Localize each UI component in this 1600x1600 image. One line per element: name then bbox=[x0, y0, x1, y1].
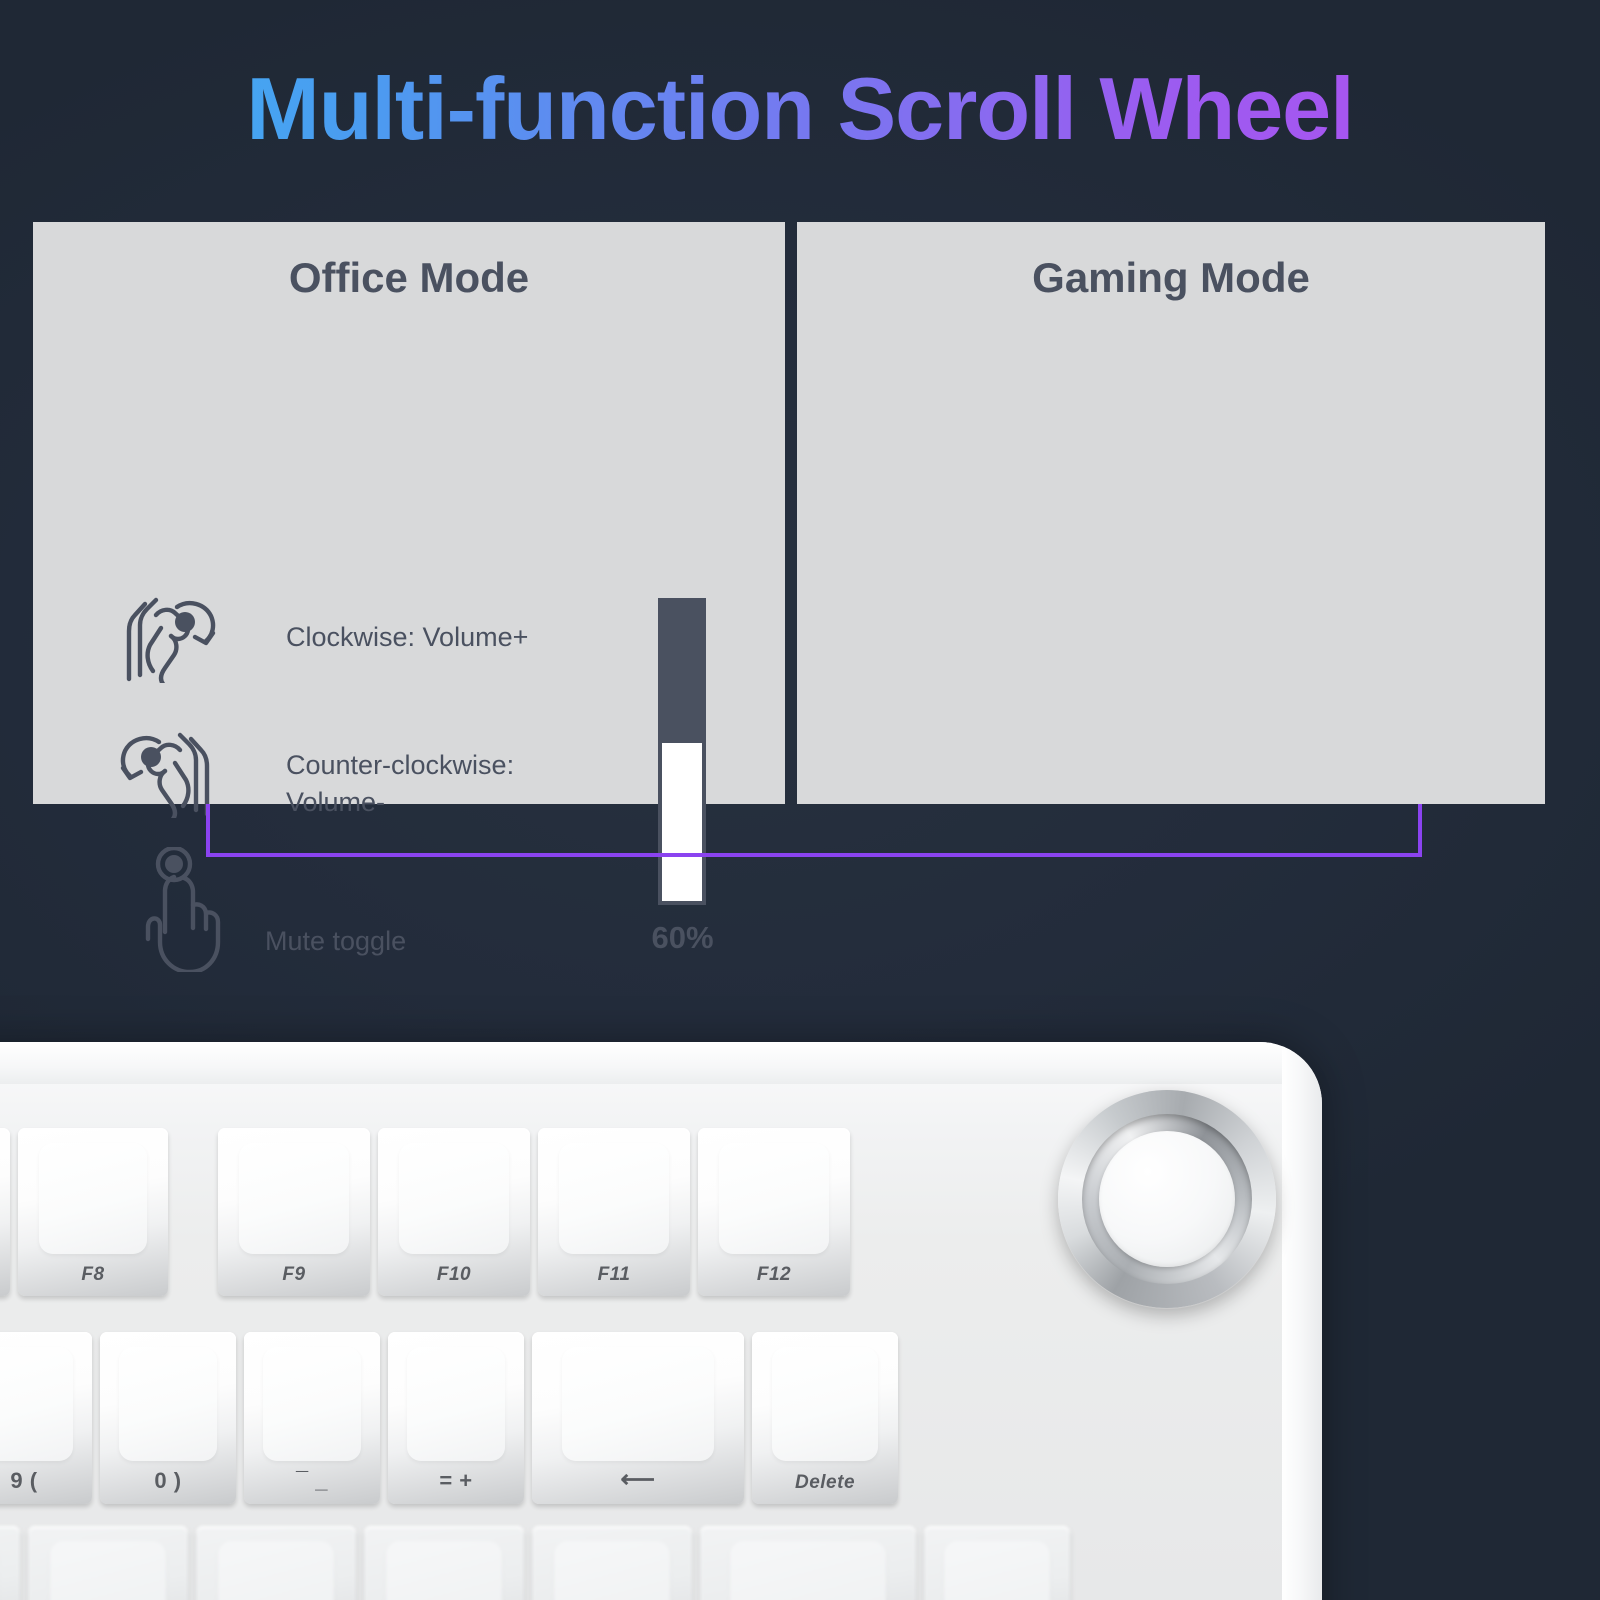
key-f9[interactable]: F9 bbox=[218, 1128, 370, 1296]
panel-office-mode: Office Mode Clockwise: Volume+ bbox=[33, 222, 785, 804]
key-minus[interactable]: ¯ _ bbox=[244, 1332, 380, 1504]
infographic-canvas: Multi-function Scroll Wheel Office Mode … bbox=[0, 0, 1600, 1600]
key-label: F7 bbox=[0, 1264, 10, 1286]
keyboard-bottom-row bbox=[0, 1526, 1078, 1600]
key-f7[interactable]: F7 bbox=[0, 1128, 10, 1296]
key-label: ¯ _ bbox=[244, 1468, 380, 1494]
key-label: F9 bbox=[218, 1264, 370, 1286]
keyboard-right-bevel bbox=[1282, 1042, 1322, 1600]
key-f12[interactable]: F12 bbox=[698, 1128, 850, 1296]
key-bottom-7[interactable] bbox=[924, 1526, 1070, 1600]
volume-fill bbox=[662, 602, 702, 743]
key-bottom-3[interactable] bbox=[196, 1526, 356, 1600]
key-label: F8 bbox=[18, 1264, 168, 1286]
key-9[interactable]: 9 ( bbox=[0, 1332, 92, 1504]
key-label: ⟵ bbox=[532, 1465, 744, 1494]
key-label: Delete bbox=[752, 1472, 898, 1494]
office-label-clockwise: Clockwise: Volume+ bbox=[286, 619, 528, 656]
keyboard-number-row: ✻ 9 ( 0 ) ¯ _ = + ⟵ Delete bbox=[0, 1332, 906, 1504]
keyboard-function-row: F7 F8 F9 F10 F11 F12 bbox=[0, 1128, 858, 1296]
key-f8[interactable]: F8 bbox=[18, 1128, 168, 1296]
panel-office-title: Office Mode bbox=[33, 254, 785, 302]
key-bottom-4[interactable] bbox=[364, 1526, 524, 1600]
key-label: = + bbox=[388, 1468, 524, 1494]
key-0[interactable]: 0 ) bbox=[100, 1332, 236, 1504]
office-row-clockwise: Clockwise: Volume+ bbox=[115, 587, 528, 688]
panel-gaming-title: Gaming Mode bbox=[797, 254, 1545, 302]
panel-gaming-mode: Gaming Mode Clockwise:Brightness+ (CAPS … bbox=[797, 222, 1545, 804]
scroll-wheel-knob[interactable] bbox=[1058, 1090, 1276, 1308]
function-row-gap bbox=[176, 1128, 218, 1296]
page-title: Multi-function Scroll Wheel bbox=[0, 58, 1600, 160]
hand-rotate-clockwise-icon bbox=[115, 587, 221, 688]
key-label: F12 bbox=[698, 1264, 850, 1286]
key-bottom-1[interactable] bbox=[0, 1526, 20, 1600]
key-label: F10 bbox=[378, 1264, 530, 1286]
key-bottom-6[interactable] bbox=[700, 1526, 916, 1600]
scroll-wheel-cap bbox=[1099, 1131, 1235, 1267]
key-bottom-2[interactable] bbox=[28, 1526, 188, 1600]
keyboard-top-bevel bbox=[0, 1042, 1322, 1084]
key-equals[interactable]: = + bbox=[388, 1332, 524, 1504]
key-f11[interactable]: F11 bbox=[538, 1128, 690, 1296]
key-label: 0 ) bbox=[100, 1468, 236, 1494]
key-label: F11 bbox=[538, 1264, 690, 1286]
key-f10[interactable]: F10 bbox=[378, 1128, 530, 1296]
key-backspace[interactable]: ⟵ bbox=[532, 1332, 744, 1504]
key-label: 9 ( bbox=[0, 1468, 92, 1494]
key-delete[interactable]: Delete bbox=[752, 1332, 898, 1504]
key-bottom-5[interactable] bbox=[532, 1526, 692, 1600]
